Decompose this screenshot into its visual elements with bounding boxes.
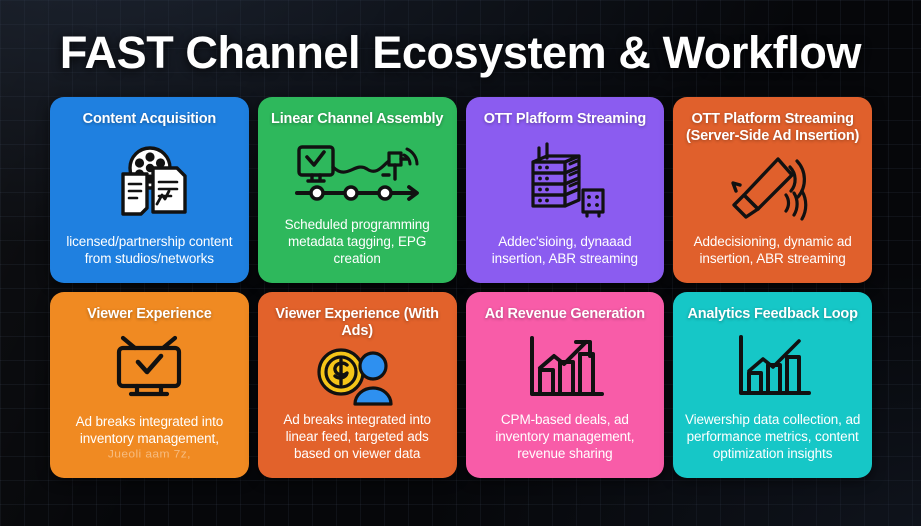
card-title: Ad Revenue Generation	[485, 306, 645, 323]
card-title: Analytics Feedback Loop	[688, 306, 858, 323]
film-reel-documents-icon	[60, 128, 239, 233]
workflow-card-grid: Content Acquisition	[50, 97, 872, 478]
coin-user-icon	[268, 339, 447, 411]
page-title: FAST Channel Ecosystem & Workflow	[0, 27, 921, 79]
card-viewer-experience[interactable]: Viewer Experience Ad breaks integrated i…	[50, 292, 249, 478]
card-content-acquisition[interactable]: Content Acquisition	[50, 97, 249, 283]
infographic-page: FAST Channel Ecosystem & Workflow Conten…	[0, 0, 921, 526]
card-title: OTT Plafform Streaming	[484, 111, 646, 128]
card-description: Scheduled programming metadata tagging, …	[268, 216, 447, 271]
bar-chart-growth-arrow-icon	[476, 323, 655, 411]
card-title: OTT Platform Streaming (Server-Side Ad I…	[683, 111, 862, 144]
megaphone-broadcast-icon	[683, 144, 862, 233]
card-ott-platform-streaming[interactable]: OTT Plafform Streaming	[466, 97, 665, 283]
server-stack-icon	[476, 128, 655, 233]
card-analytics-feedback-loop[interactable]: Analytics Feedback Loop Viewership data …	[673, 292, 872, 478]
television-check-icon	[60, 323, 239, 413]
card-description-text: Ad breaks integrated into inventory mana…	[76, 414, 224, 446]
card-title: Linear Channel Assembly	[271, 111, 443, 128]
card-description: Ad breaks integrated into linear feed, t…	[268, 411, 447, 466]
card-description: licensed/partnership content from studio…	[60, 233, 239, 271]
card-ott-platform-streaming-ssai[interactable]: OTT Platform Streaming (Server-Side Ad I…	[673, 97, 872, 283]
card-ad-revenue-generation[interactable]: Ad Revenue Generation CPM-based deals, a…	[466, 292, 665, 478]
card-description: Addecisioning, dynamic ad insertion, ABR…	[683, 233, 862, 271]
card-title: Content Acquisition	[83, 111, 216, 128]
card-description: Viewership data collection, ad performan…	[683, 411, 862, 466]
card-description-artifact: Jueoli aam 7z,	[60, 447, 239, 461]
card-description: CPM-based deals, ad inventory management…	[476, 411, 655, 466]
schedule-timeline-broadcast-icon	[268, 128, 447, 216]
card-title: Viewer Experience (With Ads)	[268, 306, 447, 339]
card-viewer-experience-with-ads[interactable]: Viewer Experience (With Ads) Ad breaks i…	[258, 292, 457, 478]
card-title: Viewer Experience	[87, 306, 212, 323]
card-description: Addec'sioing, dynaaad insertion, ABR str…	[476, 233, 655, 271]
card-description: Ad breaks integrated into inventory mana…	[60, 413, 239, 466]
card-linear-channel-assembly[interactable]: Linear Channel Assembly	[258, 97, 457, 283]
bar-chart-trendline-icon	[683, 323, 862, 411]
